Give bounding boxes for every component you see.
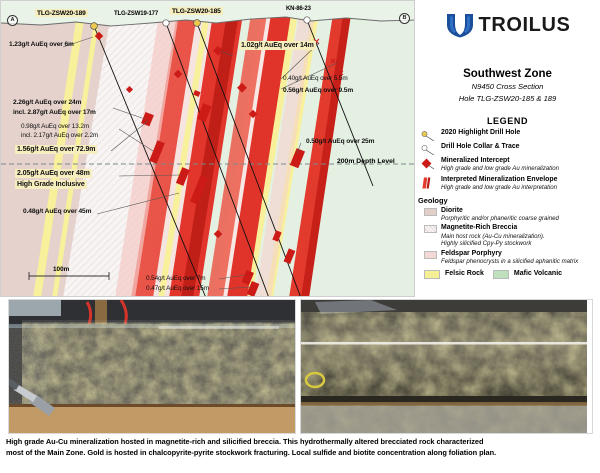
- legend-desc: High grade and low grade Au mineralizati…: [441, 165, 559, 172]
- legend-desc: Porphyritic and/or phaneritic coarse gra…: [441, 215, 559, 222]
- yellow-collar-icon: [421, 129, 437, 140]
- annotation-a7: 0.98g/t AuEq over 13.2m: [21, 123, 89, 131]
- white-collar-icon: [421, 143, 437, 154]
- zone-title: Southwest Zone: [415, 68, 600, 80]
- breccia-swatch: [424, 225, 437, 233]
- collar-185: [194, 20, 201, 27]
- annotation-a13: 0.50g/t AuEq over 25m: [306, 138, 374, 146]
- legend-label: Mineralized Intercept: [441, 157, 559, 165]
- legend-label: Magnetite-Rich Breccia: [441, 224, 545, 232]
- legend-label: Drill Hole Collar & Trace: [441, 143, 520, 151]
- annotation-a12: 0.48g/t AuEq over 45m: [23, 208, 91, 216]
- felsic-swatch: [424, 270, 440, 279]
- legend-item-highlight-hole: 2020 Highlight Drill Hole: [415, 129, 600, 140]
- legend-label: Diorite: [441, 207, 559, 215]
- legend-desc-2: Highly silicified Cpy-Py stockwork: [441, 240, 545, 247]
- collar-189: [91, 23, 98, 30]
- legend-item-collar-trace: Drill Hole Collar & Trace: [415, 143, 600, 154]
- photo-core-cylinder: [300, 299, 593, 434]
- brand-name: TROILUS: [479, 14, 571, 37]
- annotation-a8: incl. 2.17g/t AuEq over 2.2m: [21, 132, 98, 140]
- legend-item-breccia: Magnetite-Rich Breccia Main host rock (A…: [415, 224, 600, 247]
- mafic-swatch: [493, 270, 509, 279]
- diorite-swatch: [424, 208, 437, 216]
- figure-caption: High grade Au-Cu mineralization hosted i…: [6, 437, 596, 458]
- zone-subtitle-1: N9450 Cross Section: [415, 82, 600, 92]
- section-end-a: A: [7, 15, 18, 26]
- geology-heading: Geology: [415, 196, 600, 205]
- legend-item-diorite: Diorite Porphyritic and/or phaneritic co…: [415, 207, 600, 223]
- cross-section-panel: A B TLG-ZSW20-189 TLG-ZSW19-177 TLG-ZSW2…: [0, 0, 415, 297]
- legend-item-feldspar: Feldspar Porphyry Feldspar phenocrysts i…: [415, 250, 600, 266]
- annotation-a1: 1.23g/t AuEq over 6m: [9, 41, 74, 49]
- hole-label-189[interactable]: TLG-ZSW20-189: [35, 9, 88, 17]
- red-diamond-icon: [421, 157, 437, 168]
- legend-desc: High grade and low grade Au interpretati…: [441, 184, 557, 191]
- legend-label: Felsic Rock: [445, 270, 484, 278]
- red-bar-icon: [421, 176, 437, 187]
- annotation-a4: 0.56g/t AuEq over 9.5m: [283, 87, 353, 95]
- annotation-a14: 0.54g/t AuEq over 7m: [146, 275, 205, 283]
- hole-label-185[interactable]: TLG-ZSW20-185: [170, 7, 223, 15]
- zone-subtitle-2: Hole TLG-ZSW20-185 & 189: [415, 94, 600, 104]
- scale-bar-label: 100m: [53, 266, 69, 273]
- annotation-a5: 2.26g/t AuEq over 24m: [13, 99, 81, 107]
- annotation-a10: 2.05g/t AuEq over 48m: [15, 169, 92, 178]
- hole-label-177[interactable]: TLG-ZSW19-177: [114, 11, 158, 17]
- legend-label: Feldspar Porphyry: [441, 250, 578, 258]
- annotation-a15: 0.47g/t AuEq over 15m: [146, 285, 209, 293]
- annotation-a2: 1.02g/t AuEq over 14m: [239, 41, 316, 50]
- legend-item-envelope: Interpreted Mineralization Envelope High…: [415, 176, 600, 192]
- legend-label: Mafic Volcanic: [514, 270, 562, 278]
- legend-label: 2020 Highlight Drill Hole: [441, 129, 520, 137]
- legend-heading: LEGEND: [415, 116, 600, 126]
- legend-desc: Main host rock (Au-Cu mineralization).: [441, 233, 545, 240]
- annotation-a11: High Grade Inclusive: [15, 180, 87, 189]
- legend-label: Interpreted Mineralization Envelope: [441, 176, 557, 184]
- section-end-b: B: [399, 13, 410, 24]
- caption-line-1: High grade Au-Cu mineralization hosted i…: [6, 437, 596, 448]
- legend-inline-rocks: Felsic Rock Mafic Volcanic: [415, 269, 600, 279]
- feldspar-swatch: [424, 251, 437, 259]
- photo-breccia-slab: [8, 299, 296, 434]
- photo-strip: [0, 299, 600, 434]
- legend-desc: Feldspar phenocrysts in a silicified aph…: [441, 258, 578, 265]
- annotation-a3: 0.40g/t AuEq over 5.5m: [283, 75, 348, 83]
- annotation-a9: 1.56g/t AuEq over 72.9m: [15, 145, 97, 154]
- shield-logo-icon: [445, 12, 475, 38]
- annotation-a6: incl. 2.87g/t AuEq over 17m: [13, 109, 96, 117]
- collar-kn86: [304, 17, 310, 23]
- collar-177: [163, 20, 169, 26]
- figure-root: A B TLG-ZSW20-189 TLG-ZSW19-177 TLG-ZSW2…: [0, 0, 600, 473]
- legend-panel: TROILUS Southwest Zone N9450 Cross Secti…: [415, 0, 600, 297]
- legend-item-intercept: Mineralized Intercept High grade and low…: [415, 157, 600, 173]
- brand-logo: TROILUS: [415, 12, 600, 38]
- caption-line-2: most of the Main Zone. Gold is hosted in…: [6, 448, 596, 459]
- depth-level-label: 200m Depth Level: [337, 158, 395, 165]
- hole-label-kn86[interactable]: KN-86-23: [286, 6, 311, 12]
